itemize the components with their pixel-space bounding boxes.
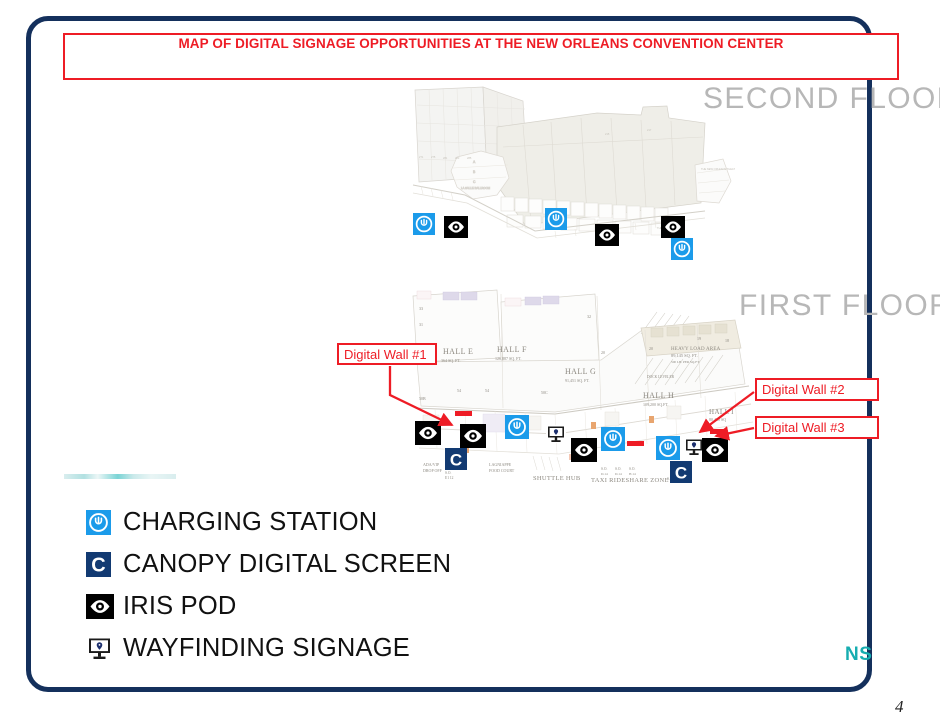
map-marker-canopy-digital-screen[interactable]: C	[670, 461, 692, 483]
legend-label: WAYFINDING SIGNAGE	[123, 634, 410, 663]
map-marker-wayfinding-signage[interactable]	[684, 438, 704, 456]
svg-text:271: 271	[419, 155, 424, 159]
svg-text:HALL F: HALL F	[497, 345, 527, 354]
svg-text:D.14: D.14	[601, 472, 608, 476]
svg-text:D.14: D.14	[615, 472, 622, 476]
svg-text:HALL E: HALL E	[443, 347, 473, 356]
svg-text:LAGNIAPPE: LAGNIAPPE	[489, 462, 512, 467]
partial-logo-watermark: NS	[845, 644, 872, 666]
svg-text:ADA/VIP: ADA/VIP	[423, 462, 440, 467]
svg-text:217: 217	[647, 128, 652, 132]
svg-text:HALL I: HALL I	[709, 408, 734, 416]
map-marker-iris-pod[interactable]	[571, 438, 597, 462]
map-marker-iris-pod[interactable]	[444, 216, 468, 238]
svg-text:500 LB. PER SQ.FT.: 500 LB. PER SQ.FT.	[671, 360, 700, 364]
svg-text:H.14: H.14	[629, 472, 636, 476]
map-marker-canopy-digital-screen[interactable]: C	[445, 448, 467, 470]
svg-text:80,400 SQ: 80,400 SQ	[709, 417, 726, 423]
svg-text:281: 281	[443, 156, 448, 160]
map-marker-charging-station[interactable]	[656, 436, 680, 460]
callout-digital-wall-3[interactable]: Digital Wall #3	[755, 416, 879, 439]
svg-text:S.O.: S.O.	[629, 467, 635, 471]
map-marker-wayfinding-signage[interactable]	[546, 425, 566, 443]
svg-text:HEAVY LOAD AREA: HEAVY LOAD AREA	[671, 347, 721, 352]
map-marker-iris-pod[interactable]	[460, 424, 486, 448]
svg-text:E1 12: E1 12	[445, 476, 454, 480]
svg-text:HALL G: HALL G	[565, 367, 596, 376]
svg-text:275: 275	[431, 155, 436, 159]
svg-text:S.O.: S.O.	[445, 471, 451, 475]
svg-text:33: 33	[419, 306, 423, 311]
first-floor-map: HALL E 364 SQ. FT. HALL F 126,887 SQ. FT…	[405, 288, 755, 493]
digital-wall-marker-3[interactable]	[710, 429, 727, 434]
svg-text:215: 215	[605, 132, 610, 136]
legend-label: IRIS POD	[123, 592, 237, 621]
iris-pod-icon	[86, 594, 114, 619]
svg-text:DOCK LEVELER: DOCK LEVELER	[647, 375, 675, 379]
callout-digital-wall-2[interactable]: Digital Wall #2	[755, 378, 879, 401]
page-title: MAP OF DIGITAL SIGNAGE OPPORTUNITIES AT …	[63, 36, 899, 51]
map-marker-charging-station[interactable]	[601, 427, 625, 451]
svg-text:FOOD COURT: FOOD COURT	[489, 468, 515, 473]
svg-text:HALL H: HALL H	[643, 391, 674, 400]
map-marker-charging-station[interactable]	[671, 238, 693, 260]
second-floor-label: SECOND FLOOR	[703, 82, 940, 116]
legend-label: CANOPY DIGITAL SCREEN	[123, 550, 451, 579]
svg-text:31: 31	[419, 322, 423, 327]
svg-text:32: 32	[587, 314, 591, 319]
canopy-digital-screen-icon: C	[86, 552, 111, 577]
charging-station-icon	[86, 510, 111, 535]
map-marker-charging-station[interactable]	[545, 208, 567, 230]
svg-text:S.O.: S.O.	[615, 467, 621, 471]
map-marker-charging-station[interactable]	[413, 213, 435, 235]
svg-text:THE NEW ORLEANS THEATRE: THE NEW ORLEANS THEATRE	[701, 167, 735, 171]
svg-text:SHUTTLE HUB: SHUTTLE HUB	[533, 475, 581, 482]
svg-text:DROP OFF: DROP OFF	[423, 468, 443, 473]
second-floor-map: A B C LA SALLE BALLROOM	[405, 85, 735, 265]
digital-wall-marker-2[interactable]	[627, 441, 644, 446]
svg-text:54: 54	[485, 388, 489, 393]
svg-text:C: C	[91, 555, 105, 577]
svg-text:50B: 50B	[419, 396, 426, 401]
legend-label: CHARGING STATION	[123, 508, 377, 537]
svg-text:S.O.: S.O.	[601, 467, 607, 471]
svg-text:54: 54	[457, 388, 461, 393]
svg-text:283: 283	[455, 156, 460, 160]
callout-digital-wall-1[interactable]: Digital Wall #1	[337, 343, 437, 365]
slide-canvas: MAP OF DIGITAL SIGNAGE OPPORTUNITIES AT …	[0, 0, 940, 727]
svg-text:18: 18	[725, 338, 729, 343]
background-artifact-strip	[64, 474, 176, 479]
svg-text:285: 285	[467, 156, 472, 160]
map-marker-charging-station[interactable]	[505, 415, 529, 439]
svg-text:TAXI RIDESHARE ZONE: TAXI RIDESHARE ZONE	[591, 477, 669, 484]
digital-wall-marker-1[interactable]	[455, 411, 472, 416]
map-marker-iris-pod[interactable]	[595, 224, 619, 246]
svg-text:20: 20	[601, 350, 605, 355]
svg-text:20: 20	[649, 346, 653, 351]
svg-text:109,200 SQ.FT.: 109,200 SQ.FT.	[643, 402, 668, 408]
wayfinding-signage-icon	[86, 637, 113, 661]
svg-text:C: C	[450, 451, 462, 470]
first-floor-label: FIRST FLOOR	[739, 289, 940, 323]
map-marker-iris-pod[interactable]	[702, 438, 728, 462]
svg-text:364 SQ. FT.: 364 SQ. FT.	[441, 358, 460, 363]
map-marker-iris-pod[interactable]	[661, 216, 685, 238]
page-number: 4	[895, 697, 904, 717]
svg-text:50C: 50C	[541, 390, 548, 395]
svg-text:LA SALLE BALLROOM: LA SALLE BALLROOM	[461, 186, 491, 190]
svg-text:19: 19	[697, 336, 701, 341]
svg-text:C: C	[675, 464, 687, 483]
map-marker-iris-pod[interactable]	[415, 421, 441, 445]
